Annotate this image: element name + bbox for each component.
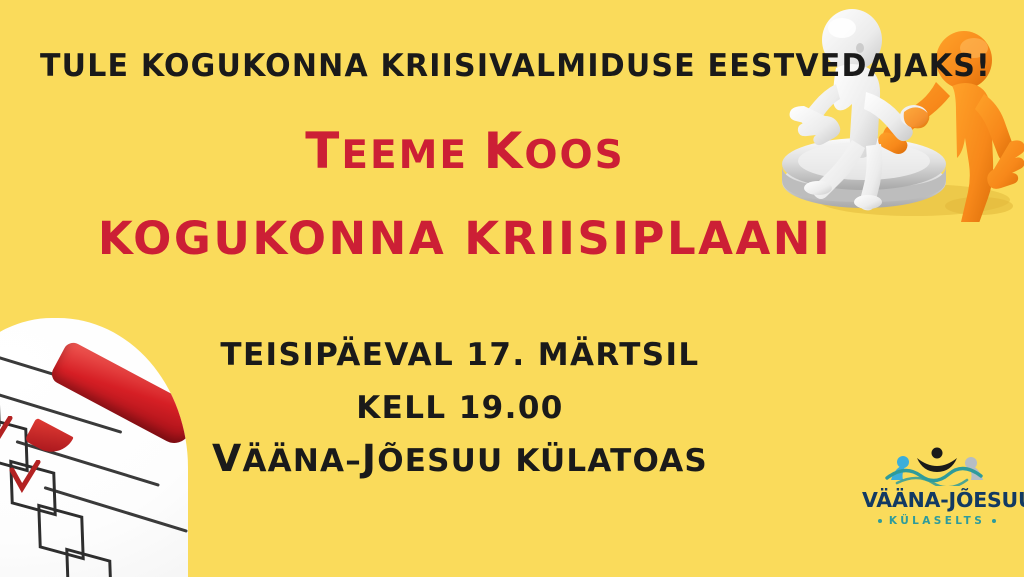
- logo-dot-left-icon: [878, 519, 882, 523]
- logo-center-figure-head: [932, 448, 943, 459]
- poster-canvas: TULE KOGUKONNA KRIISIVALMIDUSE EESTVEDAJ…: [0, 0, 1024, 577]
- event-venue-rest: ÄÄNA–: [242, 443, 361, 479]
- headline-line-1: TEEME KOOS: [0, 132, 930, 178]
- logo-mark-icon: [881, 446, 993, 486]
- logo-subtitle-row: KÜLASELTS: [862, 515, 1012, 527]
- headline-line-2: KOGUKONNA KRIISIPLAANI: [0, 212, 930, 265]
- logo-dot-right-icon: [992, 519, 996, 523]
- organization-logo: VÄÄNA-JÕESUU KÜLASELTS: [862, 446, 1012, 538]
- event-date: TEISIPÄEVAL 17. MÄRTSIL: [0, 337, 920, 373]
- helping-figures-illustration: [774, 0, 1024, 222]
- headline-line-1-cap: T: [305, 122, 341, 180]
- kicker-text: TULE KOGUKONNA KRIISIVALMIDUSE EESTVEDAJ…: [40, 48, 991, 84]
- logo-center-figure-arms: [917, 458, 957, 472]
- event-venue-rest2: ÕESUU KÜLATOAS: [377, 443, 708, 479]
- event-venue: VÄÄNA–JÕESUU KÜLATOAS: [0, 443, 920, 479]
- event-venue-cap: V: [212, 436, 242, 480]
- headline-line-1-cap2: K: [484, 122, 525, 180]
- logo-name-text: VÄÄNA-JÕESUU: [862, 488, 1012, 512]
- headline-line-1-rest2: OOS: [524, 133, 624, 178]
- event-venue-cap2: J: [362, 436, 377, 480]
- logo-subtitle-text: KÜLASELTS: [889, 515, 985, 527]
- headline-line-1-rest: EEME: [341, 133, 483, 178]
- event-time: KELL 19.00: [0, 390, 920, 426]
- figures-svg: [774, 0, 1024, 222]
